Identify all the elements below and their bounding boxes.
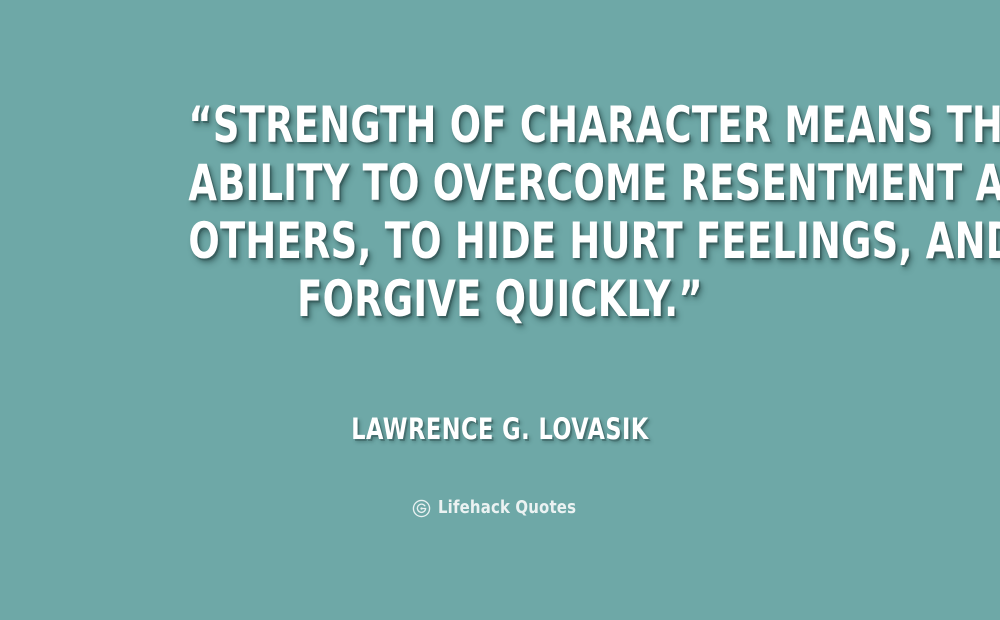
quote-line-3: OTHERS, TO HIDE HURT FEELINGS, AND TO [188,212,811,270]
author-name: LAWRENCE G. LOVASIK [351,412,649,446]
brand-footer: Lifehack Quotes [0,498,1000,518]
quote-attribution: LAWRENCE G. LOVASIK [0,412,1000,446]
quote-text-block: “STRENGTH OF CHARACTER MEANS THE ABILITY… [120,96,880,328]
quote-line-1: “STRENGTH OF CHARACTER MEANS THE [188,96,811,154]
brand-label: Lifehack Quotes [438,498,576,518]
quote-line-4: FORGIVE QUICKLY.” [188,270,811,328]
lifehack-circle-logo-icon [412,499,431,518]
quote-poster: “STRENGTH OF CHARACTER MEANS THE ABILITY… [0,0,1000,620]
quote-line-2: ABILITY TO OVERCOME RESENTMENT AGAINST [188,154,811,212]
